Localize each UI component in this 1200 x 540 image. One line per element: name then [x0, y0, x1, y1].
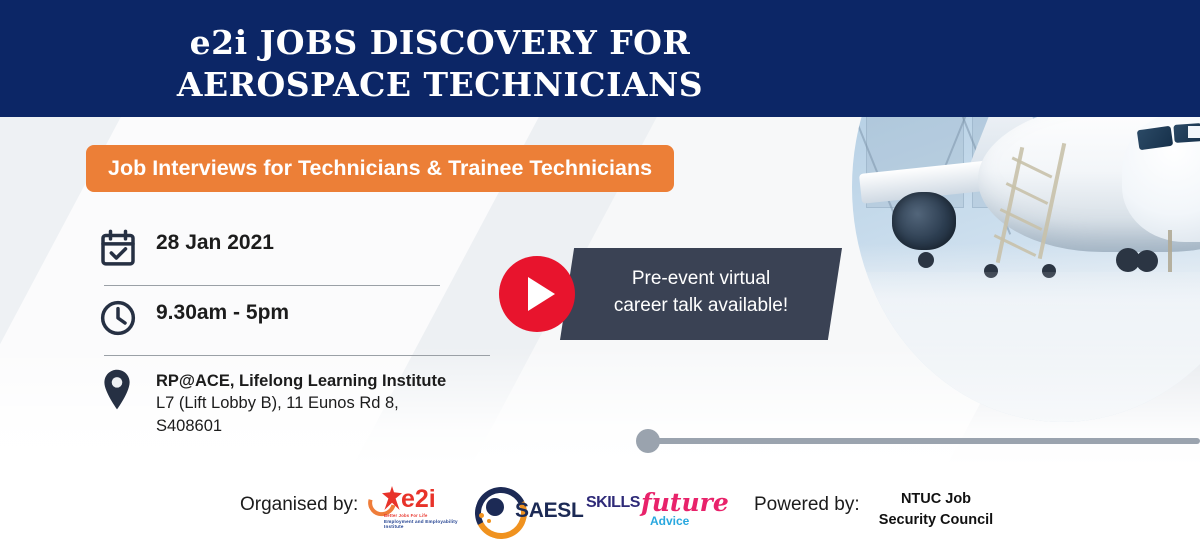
ntuc-logo-line-1: NTUC Job — [866, 489, 1006, 510]
detail-divider — [104, 285, 440, 286]
page-title: e2i JOBS DISCOVERY FOR AEROSPACE TECHNIC… — [0, 22, 880, 106]
map-pin-icon — [98, 362, 156, 412]
event-type-badge-label: Job Interviews for Technicians & Trainee… — [108, 156, 652, 181]
e2i-tagline-line-1: Better Jobs For Life — [384, 513, 428, 518]
event-date-value: 28 Jan 2021 — [156, 222, 274, 256]
ntuc-job-security-council-logo: NTUC Job Security Council — [866, 489, 1006, 530]
organised-by-label: Organised by: — [240, 494, 358, 516]
skillsfuture-advice-word: Advice — [650, 514, 689, 528]
skillsfuture-logo: SKILLS future Advice — [586, 490, 698, 528]
powered-by-label: Powered by: — [754, 494, 860, 516]
saesl-inner-dot — [486, 498, 504, 516]
event-location-value: RP@ACE, Lifelong Learning Institute L7 (… — [156, 362, 446, 437]
e2i-mark: e2i — [368, 486, 464, 512]
event-type-badge: Job Interviews for Technicians & Trainee… — [86, 145, 674, 192]
event-location-row: RP@ACE, Lifelong Learning Institute L7 (… — [98, 362, 498, 437]
event-details: 28 Jan 2021 9.30am - 5pm RP@ACE, Life — [98, 222, 498, 437]
event-date-row: 28 Jan 2021 — [98, 222, 498, 278]
saesl-wordmark: SAESL — [515, 499, 584, 523]
e2i-tagline-line-2: Employment and Employability Institute — [384, 519, 464, 529]
pre-event-callout-line-2: career talk available! — [560, 293, 842, 320]
carousel-slider-track[interactable] — [646, 438, 1200, 444]
detail-divider — [104, 355, 490, 356]
carousel-slider-thumb[interactable] — [636, 429, 660, 453]
poster-banner: e2i JOBS DISCOVERY FOR AEROSPACE TECHNIC… — [0, 0, 1200, 540]
play-button-icon[interactable] — [499, 256, 575, 332]
calendar-check-icon — [98, 222, 156, 268]
pre-event-callout[interactable]: Pre-event virtual career talk available! — [560, 248, 842, 340]
address-line-1: L7 (Lift Lobby B), 11 Eunos Rd 8, — [156, 392, 446, 414]
skillsfuture-skills-word: SKILLS — [586, 494, 640, 512]
saesl-logo: SAESL — [475, 487, 585, 527]
pre-event-callout-line-1: Pre-event virtual — [560, 266, 842, 293]
e2i-logo: e2i Better Jobs For Life Employment and … — [368, 486, 464, 528]
floor-reflection — [852, 272, 1200, 422]
play-triangle — [528, 277, 555, 311]
event-time-value: 9.30am - 5pm — [156, 292, 289, 326]
ntuc-logo-line-2: Security Council — [866, 510, 1006, 531]
venue-name: RP@ACE, Lifelong Learning Institute — [156, 370, 446, 392]
pre-event-callout-text: Pre-event virtual career talk available! — [560, 266, 842, 320]
event-time-row: 9.30am - 5pm — [98, 292, 498, 348]
skillsfuture-future-word: future — [641, 488, 729, 517]
clock-icon — [98, 292, 156, 338]
e2i-wordmark: e2i — [401, 485, 436, 514]
page-title-line-2: AEROSPACE TECHNICIANS — [0, 64, 880, 106]
page-title-line-1: e2i JOBS DISCOVERY FOR — [0, 22, 880, 64]
address-line-2: S408601 — [156, 415, 446, 437]
